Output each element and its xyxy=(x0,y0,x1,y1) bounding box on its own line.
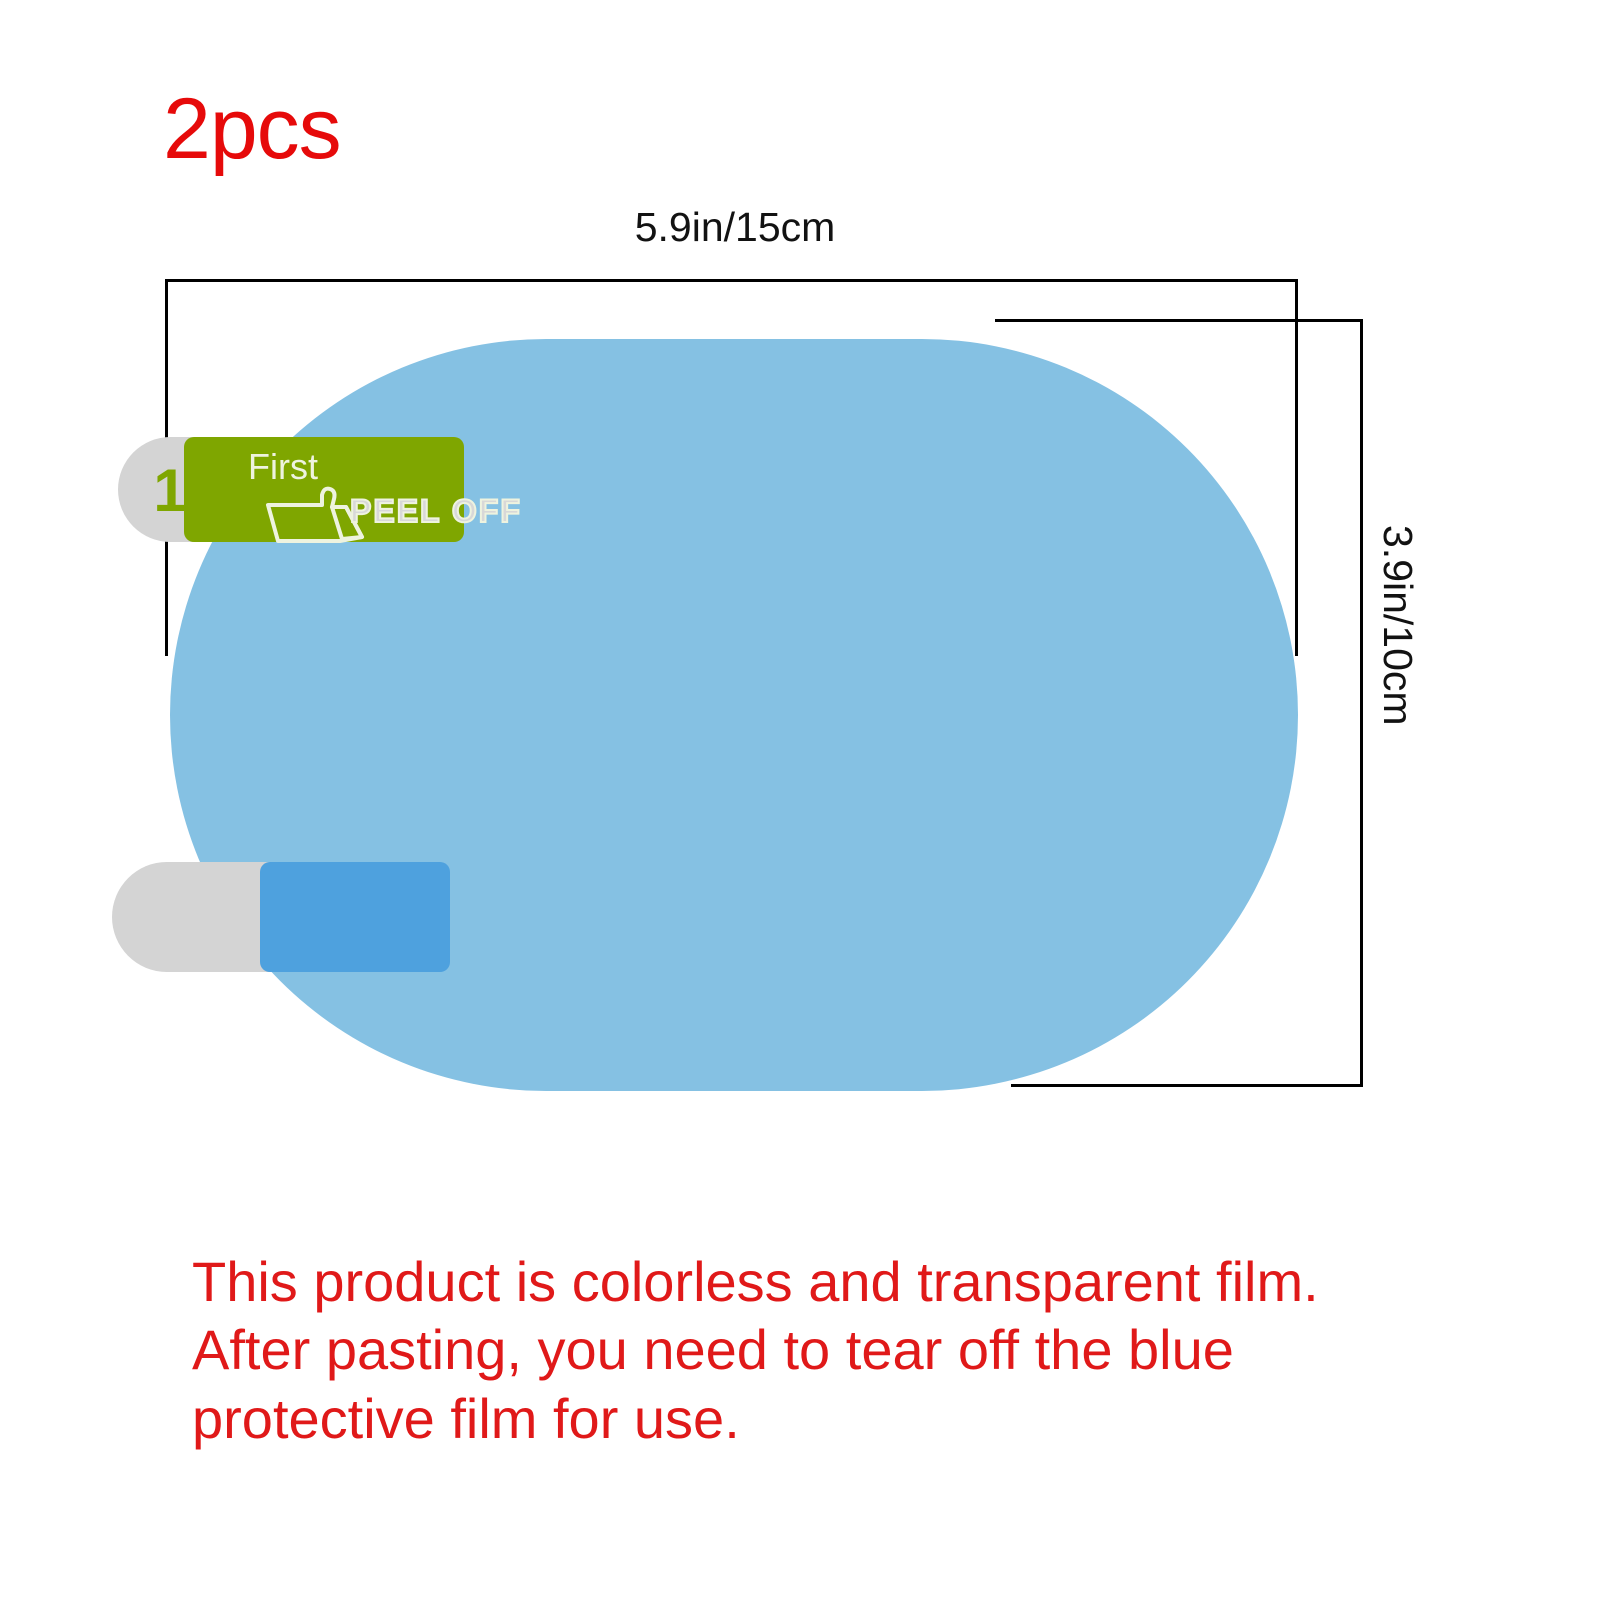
instruction-note: This product is colorless and transparen… xyxy=(192,1248,1482,1453)
width-bracket-right-tick xyxy=(1295,279,1298,656)
first-peel-tab-step-number: 1 xyxy=(144,461,196,521)
width-dimension-label: 5.9in/15cm xyxy=(0,207,1470,248)
height-bracket-right-line xyxy=(1360,319,1363,1087)
width-bracket-top-line xyxy=(165,279,1298,282)
instruction-line-3: protective film for use. xyxy=(192,1385,1482,1453)
height-bracket-top-tick xyxy=(995,319,1363,322)
quantity-badge: 2pcs xyxy=(163,86,341,172)
height-dimension-label: 3.9in/10cm xyxy=(1377,525,1418,845)
blue-peel-tab-body xyxy=(260,862,450,972)
first-peel-tab-action-label: PEEL OFF xyxy=(350,495,522,527)
height-bracket-bottom-tick xyxy=(1011,1084,1363,1087)
instruction-line-1: This product is colorless and transparen… xyxy=(192,1248,1482,1316)
instruction-line-2: After pasting, you need to tear off the … xyxy=(192,1316,1482,1384)
blue-peel-tab[interactable] xyxy=(112,862,450,972)
first-peel-tab-label: First xyxy=(248,449,318,485)
first-peel-tab[interactable]: 1 First PEEL OFF xyxy=(118,437,464,542)
